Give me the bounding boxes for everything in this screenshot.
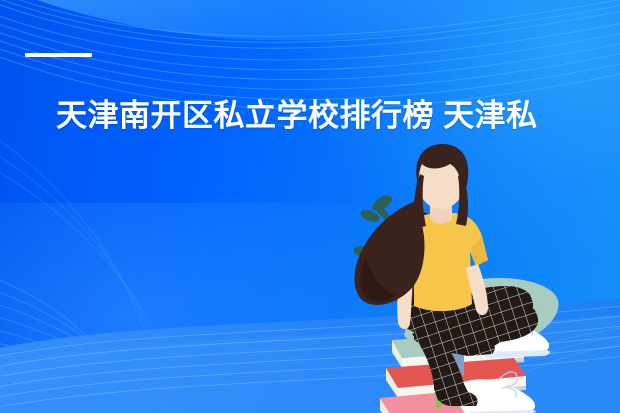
page-title: 天津南开区私立学校排行榜 天津私 bbox=[56, 97, 576, 136]
accent-rule bbox=[25, 53, 92, 57]
illustration-woman-on-books bbox=[318, 140, 620, 413]
promo-banner: 天津南开区私立学校排行榜 天津私 bbox=[0, 0, 620, 413]
